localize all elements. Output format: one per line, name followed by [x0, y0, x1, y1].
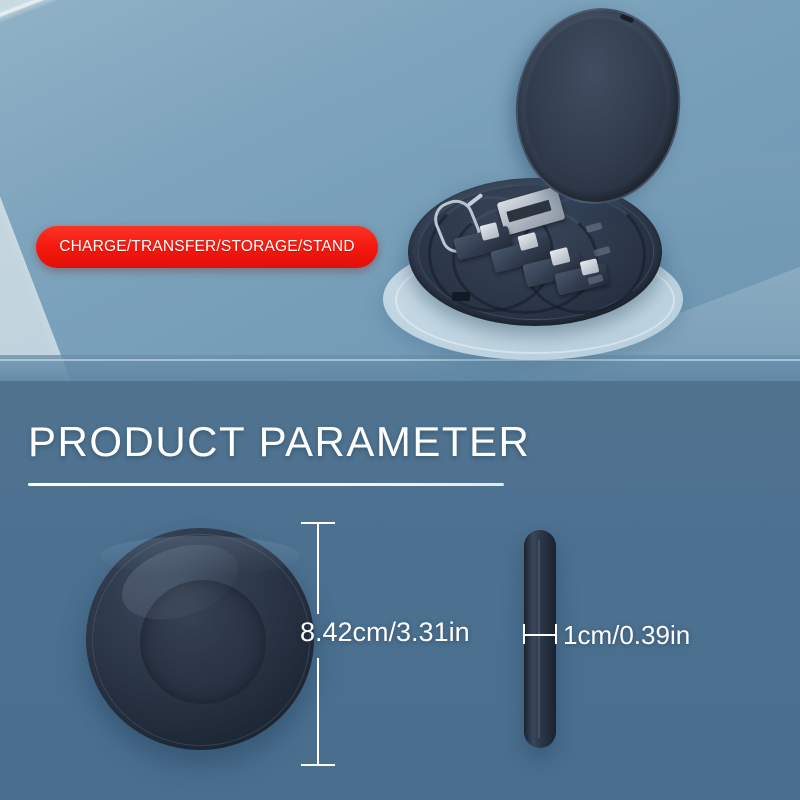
diameter-line-lower	[317, 658, 319, 766]
hero-photo-panel: CHARGE/TRANSFER/STORAGE/STAND	[0, 0, 800, 381]
spec-title-underline	[28, 483, 504, 486]
diameter-line-upper	[317, 522, 319, 614]
feature-badge-label: CHARGE/TRANSFER/STORAGE/STAND	[59, 238, 354, 256]
floor-edge-line	[0, 359, 800, 361]
thickness-label: 1cm/0.39in	[563, 620, 690, 651]
diameter-label: 8.42cm/3.31in	[300, 617, 470, 648]
closed-case-side-view	[524, 530, 556, 748]
thickness-cap-right	[555, 624, 557, 644]
tray-slot	[452, 292, 470, 301]
product-listing-image: CHARGE/TRANSFER/STORAGE/STAND PRODUCT PA…	[0, 0, 800, 800]
thickness-line	[523, 634, 557, 636]
diameter-cap-bottom	[301, 764, 335, 766]
feature-badge: CHARGE/TRANSFER/STORAGE/STAND	[36, 226, 378, 268]
closed-case-seam	[538, 540, 540, 738]
spec-title: PRODUCT PARAMETER	[28, 418, 530, 466]
